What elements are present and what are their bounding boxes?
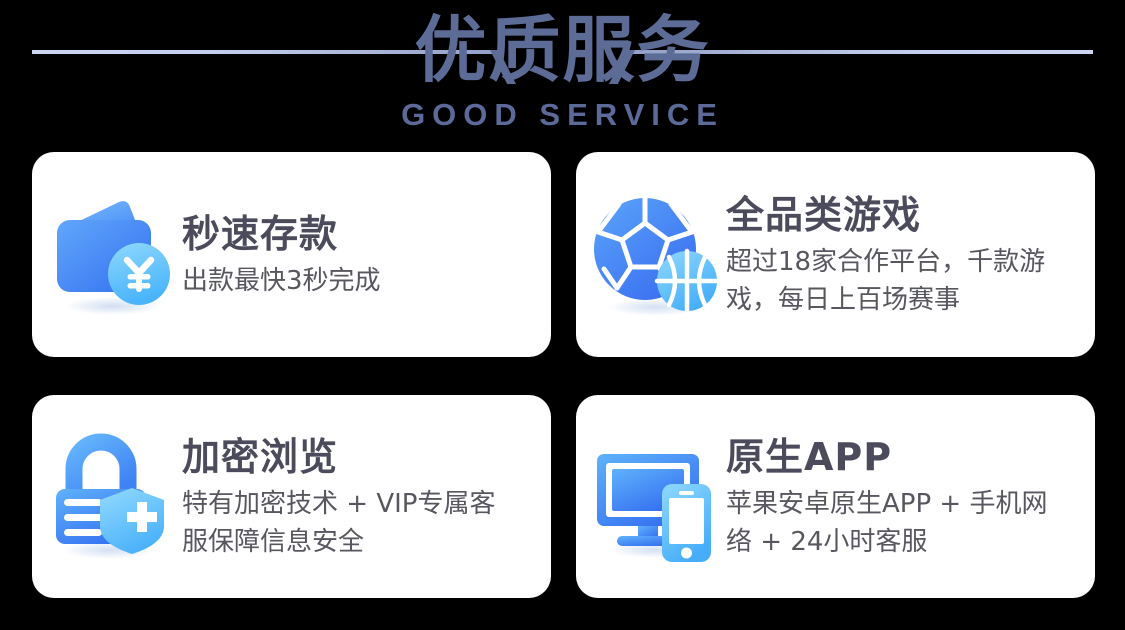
feature-card-deposit[interactable]: 秒速存款 出款最快3秒完成 <box>32 152 551 357</box>
feature-card-title: 原生APP <box>726 433 1052 481</box>
page-title: 优质服务 <box>0 8 1125 92</box>
feature-card-text: 秒速存款 出款最快3秒完成 <box>182 210 397 300</box>
page-subtitle: GOOD SERVICE <box>0 97 1125 133</box>
feature-card-title: 加密浏览 <box>182 433 508 481</box>
feature-card-description: 苹果安卓原生APP + 手机网络 + 24小时客服 <box>726 485 1052 561</box>
feature-card-title: 秒速存款 <box>182 210 381 258</box>
monitor-phone-icon <box>576 395 726 598</box>
wallet-yen-icon <box>32 152 182 357</box>
feature-card-text: 原生APP 苹果安卓原生APP + 手机网络 + 24小时客服 <box>726 433 1068 561</box>
feature-card-description: 出款最快3秒完成 <box>182 262 381 300</box>
page-header: 优质服务 GOOD SERVICE <box>0 0 1125 150</box>
feature-card-grid: 秒速存款 出款最快3秒完成 <box>32 152 1093 598</box>
feature-card-text: 加密浏览 特有加密技术 + VIP专属客服保障信息安全 <box>182 433 524 561</box>
feature-card-native-app[interactable]: 原生APP 苹果安卓原生APP + 手机网络 + 24小时客服 <box>576 395 1095 598</box>
feature-card-encryption[interactable]: 加密浏览 特有加密技术 + VIP专属客服保障信息安全 <box>32 395 551 598</box>
lock-shield-icon <box>32 395 182 598</box>
feature-card-description: 超过18家合作平台，千款游戏，每日上百场赛事 <box>726 243 1052 319</box>
soccer-basketball-icon <box>576 152 726 357</box>
feature-card-description: 特有加密技术 + VIP专属客服保障信息安全 <box>182 485 508 561</box>
feature-card-text: 全品类游戏 超过18家合作平台，千款游戏，每日上百场赛事 <box>726 191 1068 319</box>
feature-card-title: 全品类游戏 <box>726 191 1052 239</box>
feature-card-games[interactable]: 全品类游戏 超过18家合作平台，千款游戏，每日上百场赛事 <box>576 152 1095 357</box>
